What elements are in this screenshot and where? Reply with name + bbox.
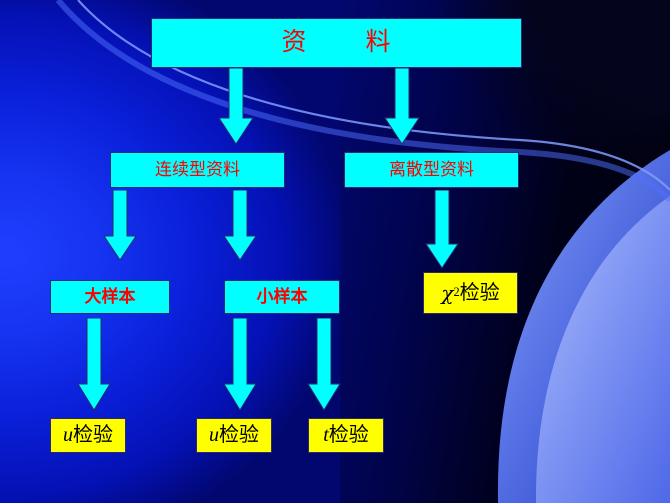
- arrow-title-to-discrete: [382, 68, 422, 146]
- u-test-label: 检验: [219, 425, 259, 446]
- arrow-title-to-continuous: [216, 68, 256, 146]
- arrow-small-sample-to-t-test: [306, 318, 342, 412]
- u-symbol: u: [209, 425, 219, 446]
- t-test-label: 检验: [329, 425, 369, 446]
- chi-symbol: χ: [441, 283, 453, 304]
- u-test-label: 检验: [73, 425, 113, 446]
- node-t-test[interactable]: t检验: [308, 418, 384, 453]
- node-small-sample[interactable]: 小样本: [224, 280, 340, 314]
- slide-canvas: 资 料 连续型资料 离散型资料 大样本 小样本 χ2检验 u检验 u检验 t检验: [0, 0, 670, 503]
- arrow-continuous-to-small-sample: [222, 190, 258, 262]
- node-title-data[interactable]: 资 料: [151, 18, 522, 68]
- arrow-small-sample-to-u-test: [222, 318, 258, 412]
- arrow-discrete-to-chi-square: [424, 190, 460, 270]
- chi-test-label: 检验: [460, 283, 500, 304]
- node-continuous-data[interactable]: 连续型资料: [110, 152, 285, 188]
- arrow-continuous-to-large-sample: [102, 190, 138, 262]
- node-u-test-small[interactable]: u检验: [196, 418, 272, 453]
- node-discrete-data[interactable]: 离散型资料: [344, 152, 519, 188]
- node-u-test-large[interactable]: u检验: [50, 418, 126, 453]
- node-large-sample[interactable]: 大样本: [50, 280, 170, 314]
- node-chi-square-test[interactable]: χ2检验: [423, 272, 518, 314]
- arrow-large-sample-to-u-test: [76, 318, 112, 412]
- u-symbol: u: [63, 425, 73, 446]
